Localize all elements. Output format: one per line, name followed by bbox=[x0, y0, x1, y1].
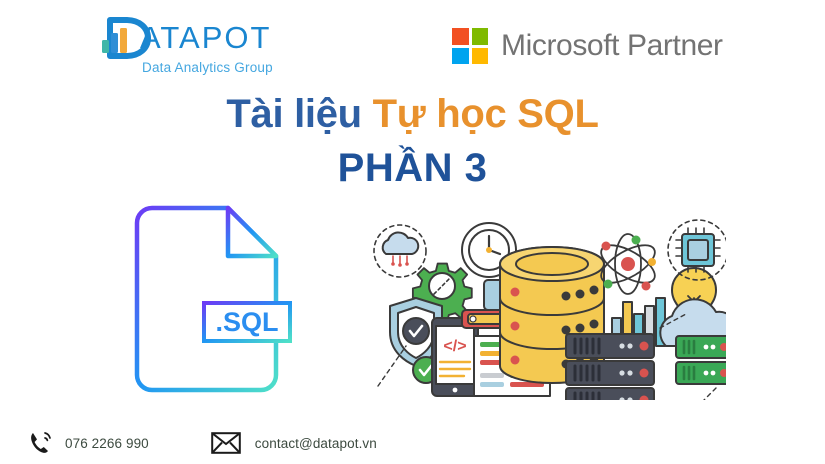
microsoft-squares-logo bbox=[452, 28, 488, 64]
phone-contact[interactable]: 076 2266 990 bbox=[28, 430, 149, 456]
envelope-icon bbox=[211, 432, 241, 454]
database-technology-illustration: </> </> bbox=[360, 218, 726, 400]
footer-contact: 076 2266 990 contact@datapot.vn bbox=[28, 428, 377, 458]
microsoft-partner-label: Microsoft Partner bbox=[501, 29, 723, 63]
title-part-2: Tự học SQL bbox=[373, 92, 599, 136]
ms-square-green bbox=[472, 28, 489, 45]
datapot-logo: ATAPOT Data Analytics Group bbox=[96, 16, 296, 78]
email-address: contact@datapot.vn bbox=[255, 436, 377, 451]
ms-square-blue bbox=[452, 48, 469, 65]
microsoft-partner-logo: Microsoft Partner bbox=[452, 24, 723, 68]
cloud-server-icon bbox=[660, 299, 726, 384]
page-subtitle: PHẦN 3 bbox=[0, 148, 825, 188]
sql-file-document-icon: .SQL bbox=[132, 203, 294, 395]
phone-icon bbox=[28, 430, 54, 456]
datapot-wordmark: ATAPOT bbox=[140, 22, 271, 53]
mobile-code-icon: </> bbox=[432, 318, 478, 396]
phone-number: 076 2266 990 bbox=[65, 436, 149, 451]
datapot-tagline: Data Analytics Group bbox=[142, 60, 273, 75]
ms-square-red bbox=[452, 28, 469, 45]
page-title: Tài liệu Tự học SQL bbox=[0, 94, 825, 134]
cloud-icon bbox=[383, 232, 419, 254]
svg-text:</>: </> bbox=[443, 338, 466, 355]
title-part-1: Tài liệu bbox=[226, 92, 361, 136]
atom-icon bbox=[596, 234, 661, 294]
email-contact[interactable]: contact@datapot.vn bbox=[211, 432, 377, 454]
slide-canvas: ATAPOT Data Analytics Group Microsoft Pa… bbox=[0, 0, 825, 464]
ms-square-yellow bbox=[472, 48, 489, 65]
sql-extension-label: .SQL bbox=[215, 307, 278, 337]
server-rack-dark bbox=[566, 334, 654, 400]
